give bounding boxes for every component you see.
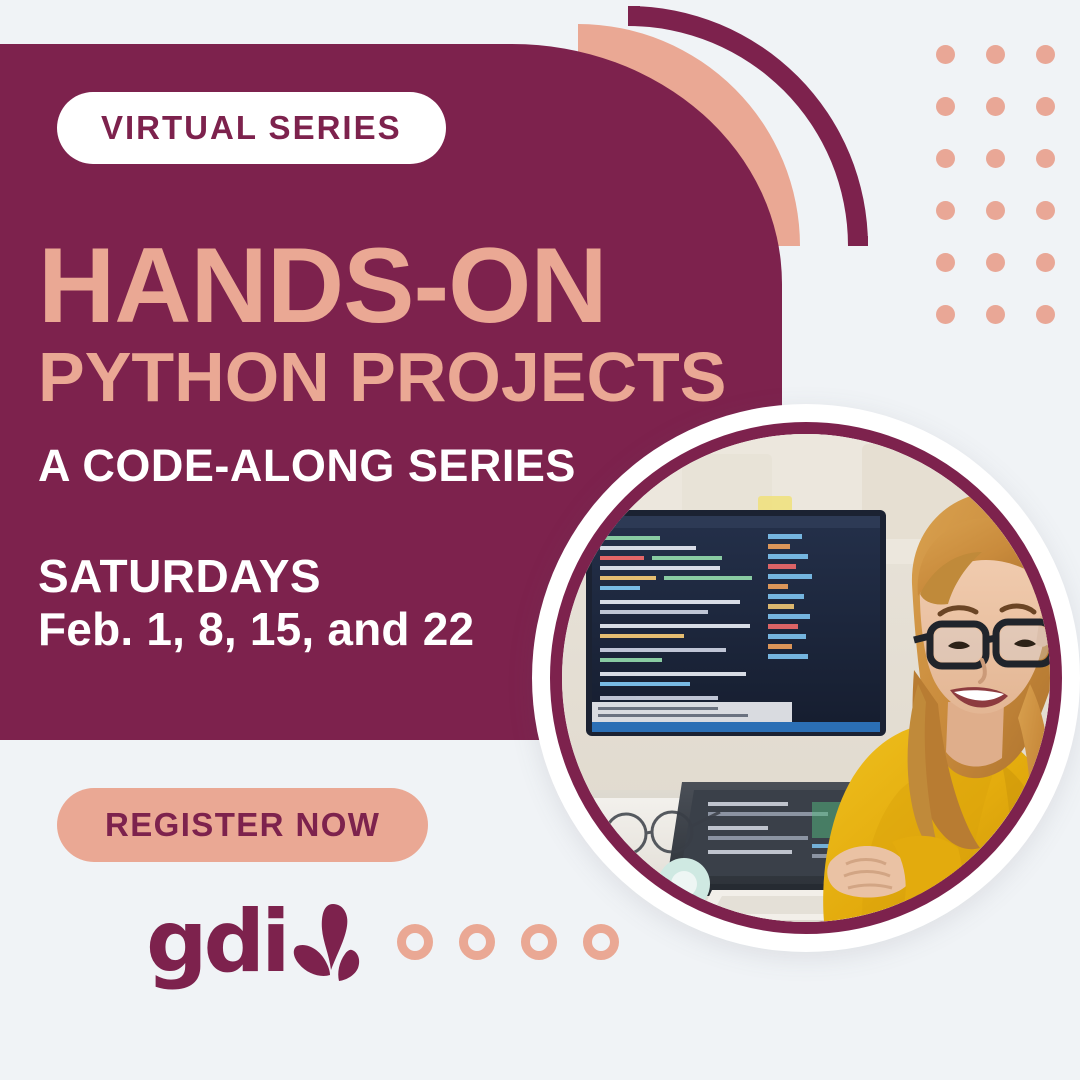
gdi-wordmark: gdi xyxy=(146,899,287,985)
dot-grid-decoration xyxy=(936,45,1080,357)
grid-dot xyxy=(986,253,1005,272)
grid-dot xyxy=(986,97,1005,116)
decorative-ring xyxy=(583,924,619,960)
register-now-button[interactable]: REGISTER NOW xyxy=(57,788,428,862)
grid-dot xyxy=(1036,97,1055,116)
register-now-label: REGISTER NOW xyxy=(105,806,380,844)
page-title: HANDS-ON xyxy=(38,236,726,334)
gdi-logo: gdi xyxy=(146,898,619,986)
grid-dot xyxy=(1036,45,1055,64)
arc-cap-right xyxy=(848,236,868,246)
decorative-ring xyxy=(397,924,433,960)
grid-dot xyxy=(936,201,955,220)
gdi-flame-mark xyxy=(289,902,367,986)
grid-dot xyxy=(936,97,955,116)
grid-dot xyxy=(986,149,1005,168)
schedule-day: SATURDAYS xyxy=(38,550,474,603)
grid-dot xyxy=(936,45,955,64)
grid-dot xyxy=(1036,201,1055,220)
grid-dot xyxy=(1036,253,1055,272)
grid-dot xyxy=(986,305,1005,324)
grid-dot xyxy=(1036,305,1055,324)
virtual-series-badge: VIRTUAL SERIES xyxy=(57,92,446,164)
arc-cap-top xyxy=(628,6,640,26)
headline-block: HANDS-ON PYTHON PROJECTS A CODE-ALONG SE… xyxy=(38,236,726,490)
page-subtitle: PYTHON PROJECTS xyxy=(38,340,726,414)
schedule-block: SATURDAYS Feb. 1, 8, 15, and 22 xyxy=(38,550,474,657)
page-tagline: A CODE-ALONG SERIES xyxy=(38,441,726,491)
poster-canvas: VIRTUAL SERIES HANDS-ON PYTHON PROJECTS … xyxy=(0,0,1080,1080)
badge-label: VIRTUAL SERIES xyxy=(101,109,402,147)
decorative-ring xyxy=(521,924,557,960)
photo-image xyxy=(562,434,1050,922)
grid-dot xyxy=(936,253,955,272)
grid-dot xyxy=(986,45,1005,64)
photo-illustration xyxy=(562,434,1050,922)
decorative-ring xyxy=(459,924,495,960)
grid-dot xyxy=(1036,149,1055,168)
ring-decoration-group xyxy=(397,924,619,960)
schedule-dates: Feb. 1, 8, 15, and 22 xyxy=(38,603,474,656)
grid-dot xyxy=(936,305,955,324)
grid-dot xyxy=(986,201,1005,220)
grid-dot xyxy=(936,149,955,168)
